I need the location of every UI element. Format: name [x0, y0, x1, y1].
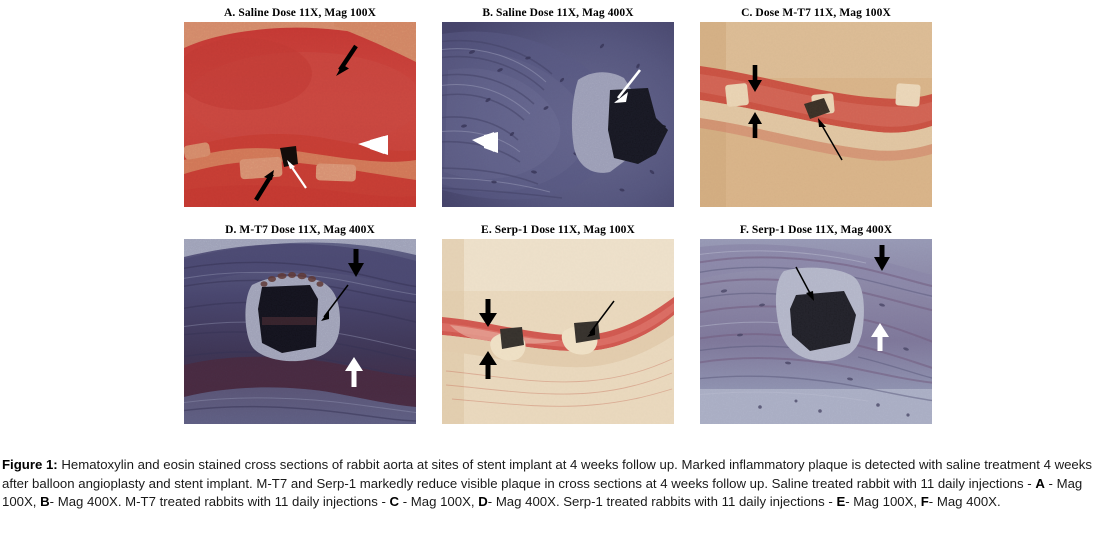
caption-ref-a: A: [1035, 476, 1045, 491]
panel-b: B. Saline Dose 11X, Mag 400X: [442, 4, 674, 207]
panel-f: F. Serp-1 Dose 11X, Mag 400X: [700, 221, 932, 424]
figure-container: A. Saline Dose 11X, Mag 100X: [0, 0, 1116, 533]
caption-e-tail: - Mag 100X,: [845, 494, 921, 509]
panel-e-svg: [442, 239, 674, 424]
figure-label: Figure 1:: [2, 457, 58, 472]
caption-ref-f: F: [921, 494, 929, 509]
panel-row-top: A. Saline Dose 11X, Mag 100X: [184, 4, 932, 207]
caption-c-tail: - Mag 100X,: [399, 494, 478, 509]
panel-e-image: [442, 239, 674, 424]
panel-c: C. Dose M-T7 11X, Mag 100X: [700, 4, 932, 207]
figure-caption: Figure 1: Hematoxylin and eosin stained …: [2, 456, 1114, 512]
panel-c-image: [700, 22, 932, 207]
panel-a-title: A. Saline Dose 11X, Mag 100X: [184, 4, 416, 22]
panel-b-svg: [442, 22, 674, 207]
panel-e-title: E. Serp-1 Dose 11X, Mag 100X: [442, 221, 674, 239]
panel-f-title: F. Serp-1 Dose 11X, Mag 400X: [700, 221, 932, 239]
panel-d-title: D. M-T7 Dose 11X, Mag 400X: [184, 221, 416, 239]
panel-b-title: B. Saline Dose 11X, Mag 400X: [442, 4, 674, 22]
panel-f-svg: [700, 239, 932, 424]
panel-a-image: [184, 22, 416, 207]
panel-c-svg: [700, 22, 932, 207]
panel-a: A. Saline Dose 11X, Mag 100X: [184, 4, 416, 207]
panel-f-image: [700, 239, 932, 424]
panel-grid: A. Saline Dose 11X, Mag 100X: [184, 4, 932, 424]
panel-d: D. M-T7 Dose 11X, Mag 400X: [184, 221, 416, 424]
panel-e: E. Serp-1 Dose 11X, Mag 100X: [442, 221, 674, 424]
caption-ref-e: E: [836, 494, 845, 509]
caption-ref-b: B: [40, 494, 50, 509]
caption-d-tail: - Mag 400X. Serp-1 treated rabbits with …: [488, 494, 837, 509]
panel-row-bottom: D. M-T7 Dose 11X, Mag 400X: [184, 221, 932, 424]
panel-a-svg: [184, 22, 416, 207]
caption-body: Hematoxylin and eosin stained cross sect…: [2, 457, 1092, 491]
panel-b-image: [442, 22, 674, 207]
caption-b-tail: - Mag 400X. M-T7 treated rabbits with 11…: [50, 494, 390, 509]
caption-ref-d: D: [478, 494, 488, 509]
panel-d-svg: [184, 239, 416, 424]
panel-c-title: C. Dose M-T7 11X, Mag 100X: [700, 4, 932, 22]
caption-ref-c: C: [390, 494, 400, 509]
caption-f-tail: - Mag 400X.: [929, 494, 1001, 509]
panel-d-image: [184, 239, 416, 424]
